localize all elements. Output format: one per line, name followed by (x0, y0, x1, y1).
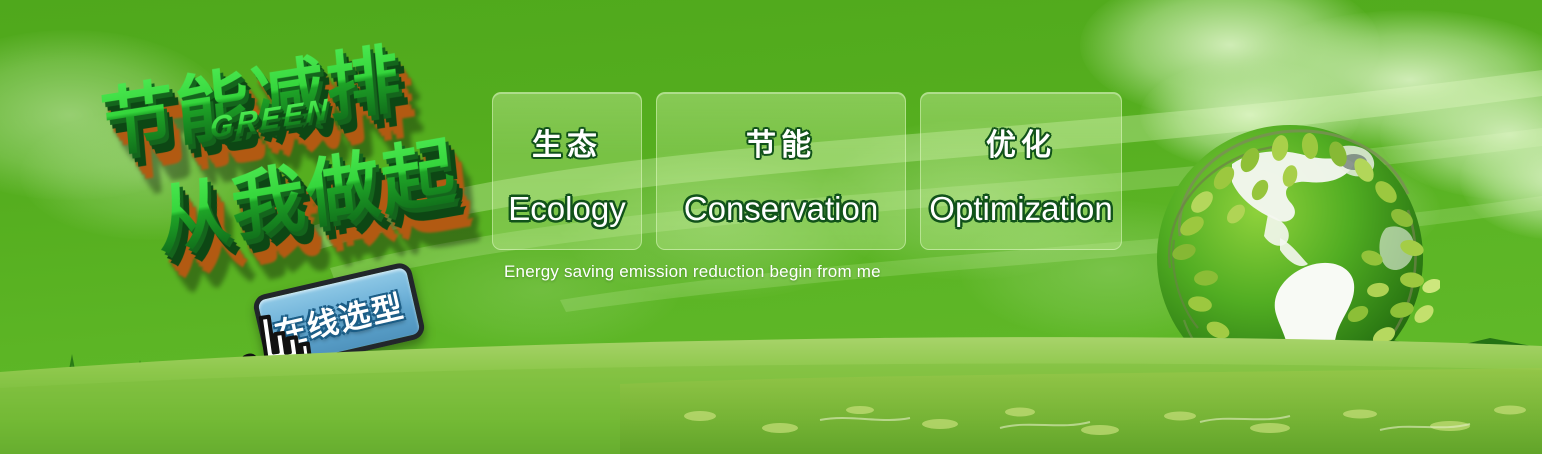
headline-3d: 节能减排 GREEN 从我做起 (84, 18, 506, 289)
cloud-icon (1460, 120, 1542, 240)
feature-card-en-label: Conservation (684, 190, 878, 228)
green-globe-icon (1140, 118, 1440, 424)
eco-banner: 节能减排 GREEN 从我做起 在线选型 生态 Ecology 节能 Conse… (0, 0, 1542, 454)
feature-card-conservation[interactable]: 节能 Conservation (656, 92, 906, 250)
feature-card-cn-label: 优化 (986, 120, 1056, 164)
feature-cards: 生态 Ecology 节能 Conservation 优化 Optimizati… (492, 92, 1122, 250)
feature-card-en-label: Ecology (508, 190, 625, 228)
feature-card-en-label: Optimization (929, 190, 1112, 228)
online-selection-label: 在线选型 (257, 267, 420, 367)
feature-card-ecology[interactable]: 生态 Ecology (492, 92, 642, 250)
feature-card-optimization[interactable]: 优化 Optimization (920, 92, 1122, 250)
feature-card-cn-label: 节能 (746, 120, 816, 164)
feature-card-cn-label: 生态 (532, 120, 602, 164)
cloud-icon (1080, 0, 1380, 120)
online-selection-button[interactable]: 在线选型 (251, 261, 426, 373)
banner-tagline: Energy saving emission reduction begin f… (504, 262, 881, 282)
